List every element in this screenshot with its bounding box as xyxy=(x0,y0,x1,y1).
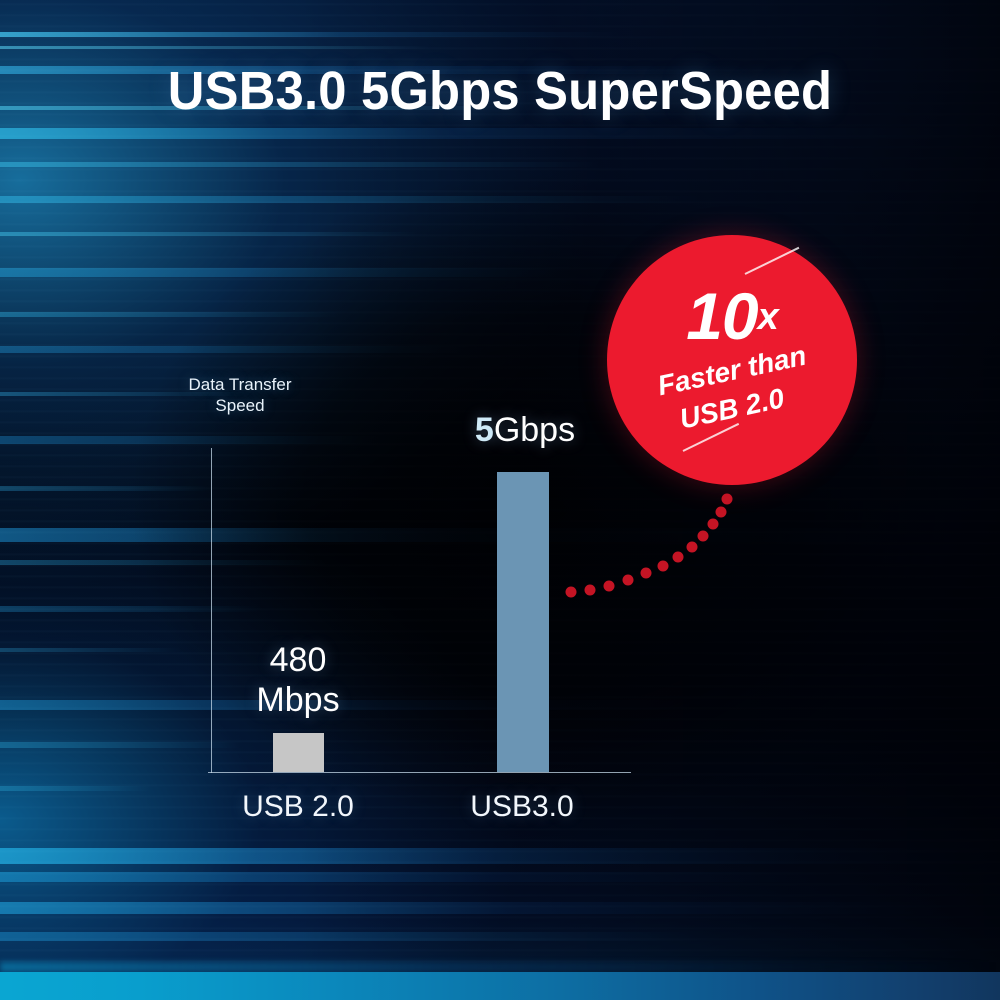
bottom-band-glow xyxy=(0,962,1000,972)
badge-10x-faster: 10x Faster than USB 2.0 xyxy=(607,235,857,485)
bottom-cyan-band xyxy=(0,972,1000,1000)
promo-graphic: USB3.0 5Gbps SuperSpeed Data Transfer Sp… xyxy=(0,0,1000,1000)
badge-multiplier-number: 10 xyxy=(686,279,757,353)
badge-multiplier-suffix: x xyxy=(758,296,778,338)
badge-accent-line-top xyxy=(745,247,800,275)
page-title: USB3.0 5Gbps SuperSpeed xyxy=(30,60,970,122)
background-speed-streaks xyxy=(0,0,1000,1000)
